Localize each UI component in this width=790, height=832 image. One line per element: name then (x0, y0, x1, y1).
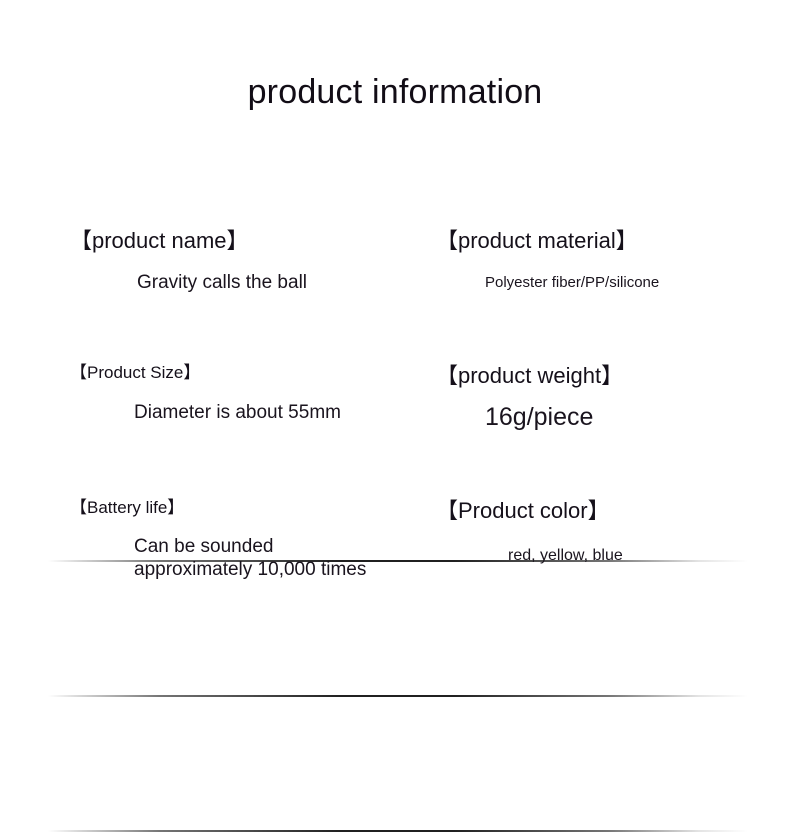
spec-cell-product-material: 【product material】 Polyester fiber/PP/si… (436, 228, 756, 293)
page-title: product information (0, 74, 790, 111)
spec-cell-product-weight: 【product weight】 16g/piece (436, 363, 756, 433)
spec-value: red, yellow, blue (436, 546, 756, 566)
spec-value: 16g/piece (436, 402, 756, 433)
spec-cell-battery-life: 【Battery life】 Can be sounded approximat… (70, 498, 420, 582)
spec-value: Gravity calls the ball (70, 271, 420, 294)
spec-label: 【Product color】 (436, 498, 756, 523)
spec-cell-product-name: 【product name】 Gravity calls the ball (70, 228, 420, 294)
row-divider (48, 695, 748, 697)
spec-label: 【product weight】 (436, 363, 756, 388)
spec-value: Can be sounded approximately 10,000 time… (70, 535, 420, 583)
spec-cell-product-size: 【Product Size】 Diameter is about 55mm (70, 363, 420, 424)
spec-value: Polyester fiber/PP/silicone (436, 274, 756, 292)
product-information-page: product information 【product name】 Gravi… (0, 0, 790, 658)
spec-label: 【Product Size】 (70, 363, 420, 383)
spec-row: 【Product Size】 Diameter is about 55mm 【p… (0, 363, 790, 498)
spec-row: 【Battery life】 Can be sounded approximat… (0, 498, 790, 633)
spec-row: 【product name】 Gravity calls the ball 【p… (0, 228, 790, 363)
specification-table: 【product name】 Gravity calls the ball 【p… (0, 228, 790, 633)
spec-label: 【product name】 (70, 228, 420, 253)
spec-label: 【Battery life】 (70, 498, 420, 518)
spec-label: 【product material】 (436, 228, 756, 253)
spec-value: Diameter is about 55mm (70, 401, 420, 424)
spec-cell-product-color: 【Product color】 red, yellow, blue (436, 498, 756, 566)
